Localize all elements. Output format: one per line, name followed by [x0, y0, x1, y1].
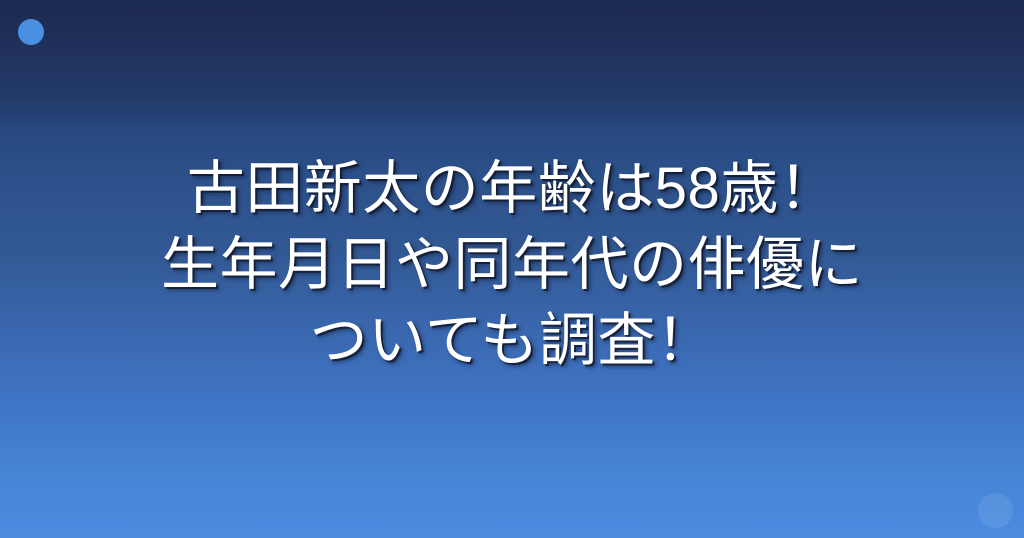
page-title: 古田新太の年齢は58歳！ 生年月日や同年代の俳優に ついても調査！	[0, 0, 1024, 538]
title-line-1: 古田新太の年齢は58歳！	[187, 151, 838, 227]
thumbnail-canvas: 古田新太の年齢は58歳！ 生年月日や同年代の俳優に ついても調査！	[0, 0, 1024, 538]
title-line-3: ついても調査！	[310, 303, 715, 379]
title-line-2: 生年月日や同年代の俳優に	[161, 227, 863, 303]
